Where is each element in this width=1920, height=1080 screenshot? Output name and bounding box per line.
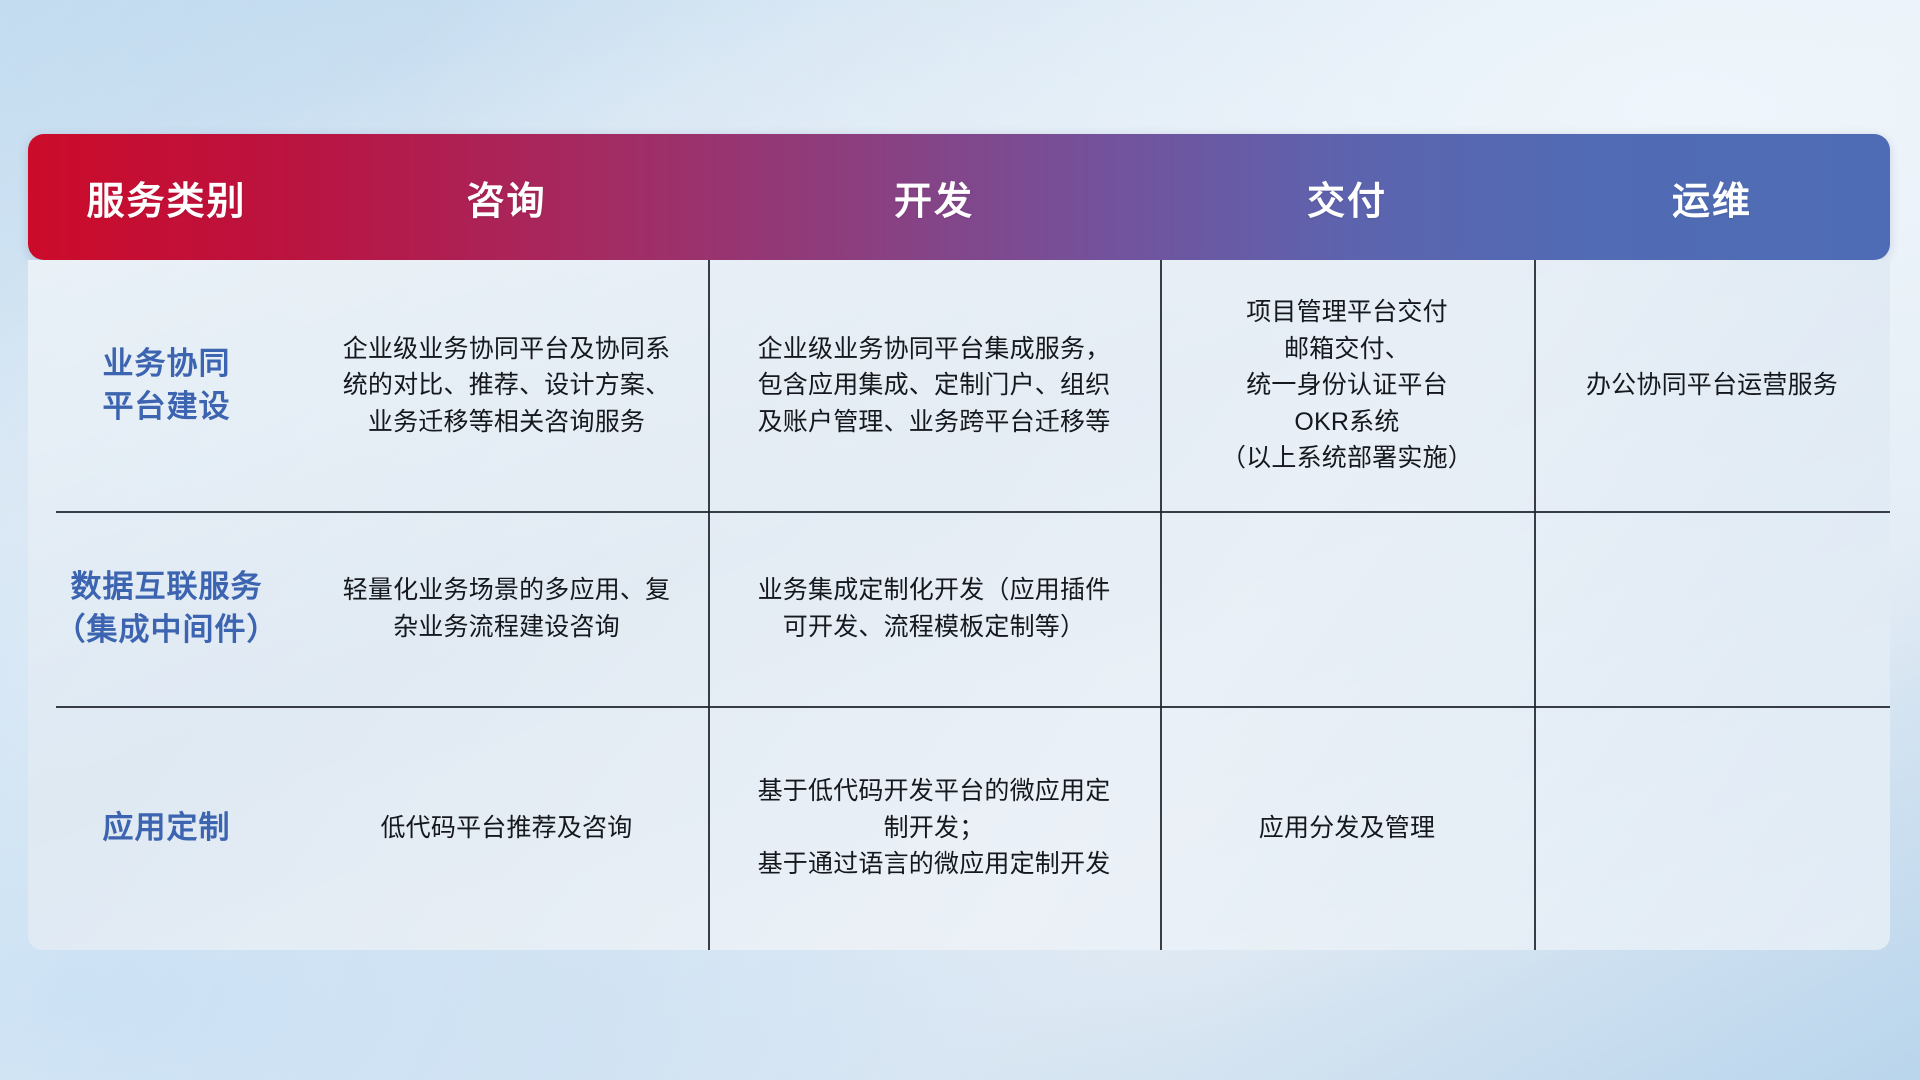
cell-development-text: 基于低代码开发平台的微应用定 制开发； 基于通过语言的微应用定制开发 (758, 773, 1111, 883)
cell-consulting-text: 低代码平台推荐及咨询 (380, 810, 632, 847)
column-header-delivery: 交付 (1160, 170, 1534, 225)
row-divider (56, 511, 1890, 513)
column-header-consulting: 咨询 (305, 170, 708, 225)
table-body-rows: 业务协同 平台建设 企业级业务协同平台及协同系 统的对比、推荐、设计方案、 业务… (28, 260, 1890, 950)
column-divider (708, 260, 710, 950)
cell-development: 企业级业务协同平台集成服务， 包含应用集成、定制门户、组织 及账户管理、业务跨平… (708, 260, 1160, 511)
table-row: 数据互联服务 （集成中间件） 轻量化业务场景的多应用、复 杂业务流程建设咨询 业… (28, 511, 1890, 706)
cell-delivery-text: 应用分发及管理 (1259, 810, 1435, 847)
cell-consulting: 低代码平台推荐及咨询 (305, 706, 708, 950)
row-divider (56, 706, 1890, 708)
cell-category: 应用定制 (28, 706, 305, 950)
cell-category: 数据互联服务 （集成中间件） (28, 511, 305, 706)
column-divider (1534, 260, 1536, 950)
service-matrix-table: 服务类别 咨询 开发 交付 运维 业务协同 平台建设 企业级业务协同平台及协同系… (28, 134, 1890, 950)
column-header-category: 服务类别 (28, 170, 305, 225)
column-divider (1160, 260, 1162, 950)
cell-category-label: 业务协同 平台建设 (103, 343, 231, 429)
column-header-operations: 运维 (1534, 170, 1890, 225)
table-row: 业务协同 平台建设 企业级业务协同平台及协同系 统的对比、推荐、设计方案、 业务… (28, 260, 1890, 511)
cell-consulting: 轻量化业务场景的多应用、复 杂业务流程建设咨询 (305, 511, 708, 706)
table-row: 应用定制 低代码平台推荐及咨询 基于低代码开发平台的微应用定 制开发； 基于通过… (28, 706, 1890, 950)
cell-consulting-text: 企业级业务协同平台及协同系 统的对比、推荐、设计方案、 业务迁移等相关咨询服务 (343, 331, 671, 441)
column-header-development: 开发 (708, 170, 1160, 225)
cell-development: 业务集成定制化开发（应用插件 可开发、流程模板定制等） (708, 511, 1160, 706)
cell-operations-text: 办公协同平台运营服务 (1586, 367, 1838, 404)
cell-category-label: 应用定制 (103, 807, 231, 850)
cell-delivery: 项目管理平台交付 邮箱交付、 统一身份认证平台 OKR系统 （以上系统部署实施） (1160, 260, 1534, 511)
cell-development-text: 业务集成定制化开发（应用插件 可开发、流程模板定制等） (758, 572, 1111, 645)
cell-delivery-text: 项目管理平台交付 邮箱交付、 统一身份认证平台 OKR系统 （以上系统部署实施） (1221, 294, 1473, 477)
cell-consulting: 企业级业务协同平台及协同系 统的对比、推荐、设计方案、 业务迁移等相关咨询服务 (305, 260, 708, 511)
cell-operations (1534, 511, 1890, 706)
cell-development-text: 企业级业务协同平台集成服务， 包含应用集成、定制门户、组织 及账户管理、业务跨平… (758, 331, 1111, 441)
cell-operations (1534, 706, 1890, 950)
cell-delivery (1160, 511, 1534, 706)
cell-delivery: 应用分发及管理 (1160, 706, 1534, 950)
table-header-row: 服务类别 咨询 开发 交付 运维 (28, 134, 1890, 260)
cell-category: 业务协同 平台建设 (28, 260, 305, 511)
cell-development: 基于低代码开发平台的微应用定 制开发； 基于通过语言的微应用定制开发 (708, 706, 1160, 950)
cell-consulting-text: 轻量化业务场景的多应用、复 杂业务流程建设咨询 (343, 572, 671, 645)
cell-category-label: 数据互联服务 （集成中间件） (55, 566, 279, 652)
cell-operations: 办公协同平台运营服务 (1534, 260, 1890, 511)
